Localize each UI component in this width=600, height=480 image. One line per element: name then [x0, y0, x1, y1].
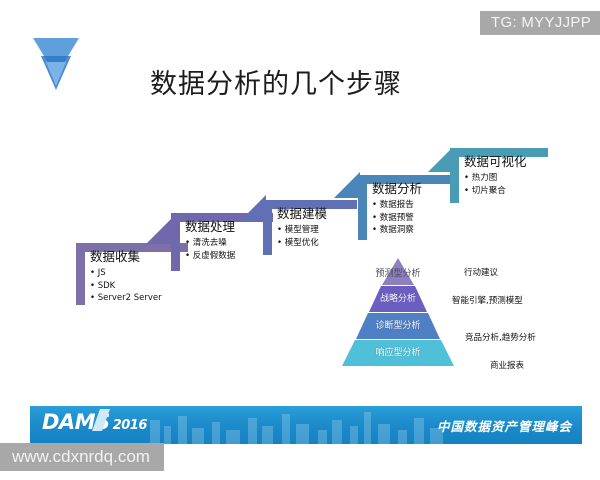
step-2-heading: 数据处理	[185, 219, 235, 235]
pyramid-note-2: 智能引擎,预测模型	[452, 294, 523, 306]
list-item: 数据洞察	[372, 224, 422, 237]
step-arrow-1-icon	[146, 218, 172, 244]
step-5[interactable]: 数据可视化 热力图 切片聚合	[450, 148, 554, 203]
list-item: 模型优化	[277, 237, 327, 250]
pyramid-level-2-label: 战略分析	[338, 291, 458, 304]
step-5-heading: 数据可视化	[464, 154, 527, 170]
step-2-bullets: 清洗去噪 反虚假数据	[185, 237, 235, 263]
pyramid-note-1: 行动建议	[464, 266, 498, 278]
pyramid-level-4-label: 响应型分析	[338, 345, 458, 358]
pyramid-level-1-label: 预测型分析	[338, 266, 458, 279]
list-item: SDK	[90, 280, 162, 293]
step-1-bullets: JS SDK Server2 Server	[90, 267, 162, 306]
list-item: 切片聚合	[464, 185, 527, 198]
list-item: 反虚假数据	[185, 250, 235, 263]
list-item: JS	[90, 267, 162, 280]
step-4-heading: 数据分析	[372, 181, 422, 197]
step-3-heading: 数据建模	[277, 206, 327, 222]
slide-canvas: 数据分析的几个步骤 TG: MYYJJPP 数据收集 JS SDK Server…	[0, 0, 600, 480]
step-4[interactable]: 数据分析 数据报告 数据预警 数据洞察	[358, 175, 458, 240]
step-4-bullets: 数据报告 数据预警 数据洞察	[372, 199, 422, 238]
list-item: 清洗去噪	[185, 237, 235, 250]
list-item: 模型管理	[277, 224, 327, 237]
footer-banner: DAMS2016 中国数据资产管理峰会	[30, 406, 582, 444]
analytics-pyramid: 预测型分析 战略分析 诊断型分析 响应型分析	[338, 258, 458, 368]
step-1-heading: 数据收集	[90, 249, 162, 265]
dams-year: 2016	[113, 418, 147, 433]
step-3-bullets: 模型管理 模型优化	[277, 224, 327, 250]
pyramid-note-3: 竞品分析,趋势分析	[465, 331, 536, 343]
step-arrow-3-icon	[334, 172, 360, 198]
step-5-bullets: 热力图 切片聚合	[464, 172, 527, 198]
pyramid-level-3-label: 诊断型分析	[338, 318, 458, 331]
step-arrow-4-icon	[428, 148, 452, 172]
list-item: Server2 Server	[90, 292, 162, 305]
footer-tagline: 中国数据资产管理峰会	[437, 416, 572, 435]
step-3[interactable]: 数据建模 模型管理 模型优化	[263, 200, 363, 255]
watermark-bottom: www.cdxnrdq.com	[0, 443, 164, 471]
list-item: 数据报告	[372, 199, 422, 212]
list-item: 热力图	[464, 172, 527, 185]
pyramid-note-4: 商业报表	[490, 359, 524, 371]
list-item: 数据预警	[372, 212, 422, 225]
